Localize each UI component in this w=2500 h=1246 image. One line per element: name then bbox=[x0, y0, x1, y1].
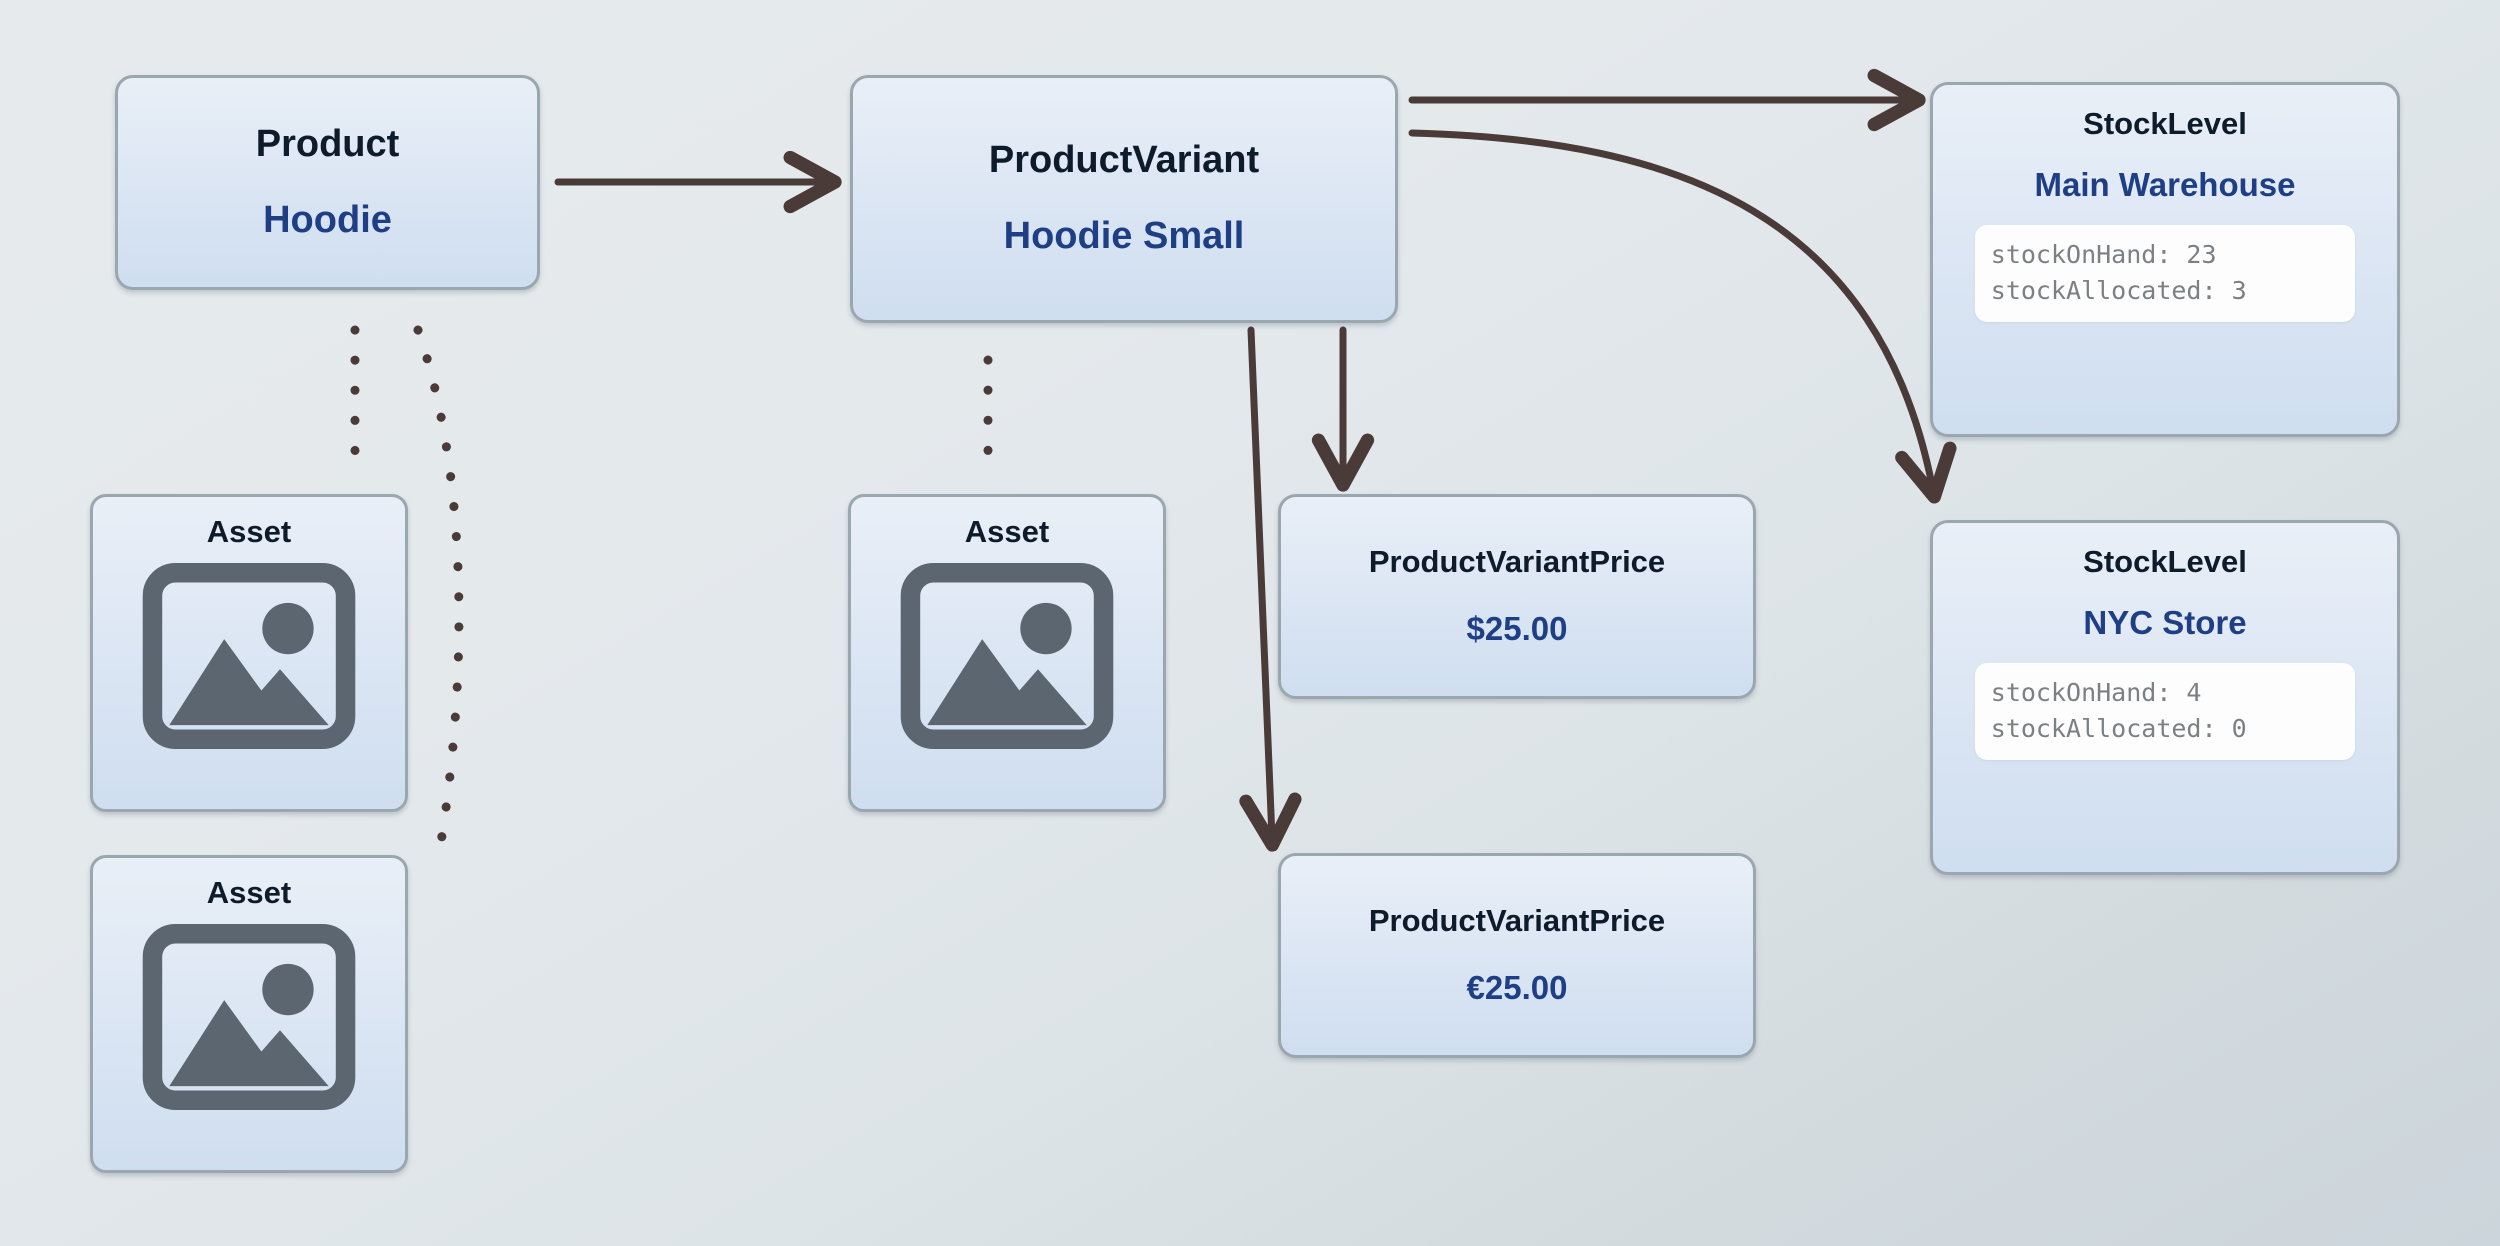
node-variant-asset-type-label: Asset bbox=[965, 515, 1049, 549]
node-stock-main-detail-panel: stockOnHand: 23 stockAllocated: 3 bbox=[1975, 225, 2355, 322]
node-price-eur-type-label: ProductVariantPrice bbox=[1369, 904, 1665, 938]
node-stock-main[interactable]: StockLevel Main Warehouse stockOnHand: 2… bbox=[1930, 82, 2400, 437]
node-product-variant-name: Hoodie Small bbox=[1004, 216, 1245, 258]
node-price-usd-amount: $25.00 bbox=[1467, 611, 1568, 647]
image-placeholder-icon bbox=[141, 924, 357, 1115]
node-product-name: Hoodie bbox=[263, 200, 392, 242]
node-product-asset-1-type-label: Asset bbox=[207, 515, 291, 549]
node-stock-nyc-detail-panel: stockOnHand: 4 stockAllocated: 0 bbox=[1975, 663, 2355, 760]
stock-allocated-value: stockAllocated: 0 bbox=[1991, 711, 2339, 747]
node-stock-nyc-location: NYC Store bbox=[2083, 605, 2246, 641]
node-product-asset-2-type-label: Asset bbox=[207, 876, 291, 910]
node-product-asset-1[interactable]: Asset bbox=[90, 494, 408, 812]
node-stock-nyc[interactable]: StockLevel NYC Store stockOnHand: 4 stoc… bbox=[1930, 520, 2400, 875]
connector-variant-to-stock-nyc bbox=[1412, 133, 1933, 490]
image-placeholder-icon bbox=[141, 563, 357, 754]
node-product-variant[interactable]: ProductVariant Hoodie Small bbox=[850, 75, 1398, 323]
node-price-usd[interactable]: ProductVariantPrice $25.00 bbox=[1278, 494, 1756, 699]
node-product-type-label: Product bbox=[256, 124, 400, 166]
node-stock-main-location: Main Warehouse bbox=[2035, 167, 2296, 203]
stock-allocated-value: stockAllocated: 3 bbox=[1991, 273, 2339, 309]
node-price-usd-type-label: ProductVariantPrice bbox=[1369, 545, 1665, 579]
node-stock-main-type-label: StockLevel bbox=[2083, 107, 2247, 141]
stock-on-hand-value: stockOnHand: 4 bbox=[1991, 675, 2339, 711]
node-product-variant-type-label: ProductVariant bbox=[989, 140, 1259, 182]
node-variant-asset[interactable]: Asset bbox=[848, 494, 1166, 812]
node-product[interactable]: Product Hoodie bbox=[115, 75, 540, 290]
node-price-eur-amount: €25.00 bbox=[1467, 970, 1568, 1006]
node-price-eur[interactable]: ProductVariantPrice €25.00 bbox=[1278, 853, 1756, 1058]
node-product-asset-2[interactable]: Asset bbox=[90, 855, 408, 1173]
node-stock-nyc-type-label: StockLevel bbox=[2083, 545, 2247, 579]
connector-product-to-asset-2 bbox=[418, 330, 459, 866]
diagram-canvas: Product Hoodie ProductVariant Hoodie Sma… bbox=[0, 0, 2500, 1246]
image-placeholder-icon bbox=[899, 563, 1115, 754]
connector-variant-to-price-eur bbox=[1251, 330, 1272, 838]
stock-on-hand-value: stockOnHand: 23 bbox=[1991, 237, 2339, 273]
